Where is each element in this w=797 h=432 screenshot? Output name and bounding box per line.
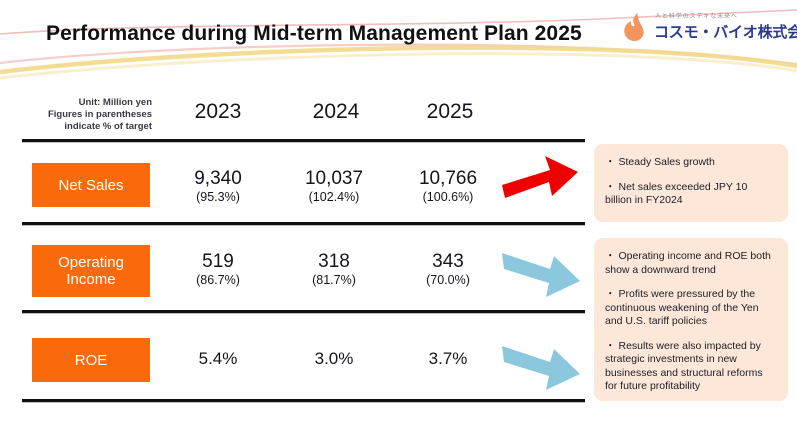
commentary-item: ・Net sales exceeded JPY 10 billion in FY… <box>605 181 777 208</box>
metric-label-net-sales-text: Net Sales <box>58 177 123 194</box>
cell-subvalue: (81.7%) <box>282 273 386 288</box>
metric-label-operating-income-line2: Income <box>66 271 115 288</box>
cell-net-sales-2025: 10,766 (100.6%) <box>396 168 500 205</box>
table-header-rule <box>22 139 585 142</box>
arrow-down-right-icon <box>500 243 584 303</box>
cell-operating-income-2023: 519 (86.7%) <box>166 251 270 288</box>
commentary-text: Results were also impacted by strategic … <box>605 340 763 393</box>
metric-label-net-sales: Net Sales <box>32 163 150 207</box>
bullet-glyph: ・ <box>605 181 616 193</box>
cell-value: 10,037 <box>282 168 386 190</box>
unit-note: Unit: Million yen Figures in parentheses… <box>22 97 152 133</box>
cell-value: 3.7% <box>396 348 500 370</box>
cell-subvalue: (100.6%) <box>396 190 500 205</box>
commentary-text: Profits were pressured by the continuous… <box>605 288 759 327</box>
column-header-2025: 2025 <box>400 100 500 124</box>
cell-value: 9,340 <box>166 168 270 190</box>
cell-net-sales-2024: 10,037 (102.4%) <box>282 168 386 205</box>
unit-note-line-1: Unit: Million yen <box>22 97 152 109</box>
commentary-item: ・Profits were pressured by the continuou… <box>605 288 777 329</box>
bullet-glyph: ・ <box>605 288 616 300</box>
slide-canvas: Performance during Mid-term Management P… <box>0 0 797 432</box>
logo-tagline: 人と科学のステキな未来へ <box>655 11 738 20</box>
column-header-2023: 2023 <box>168 100 268 124</box>
logo-company-name: コスモ・バイオ株式会社 <box>654 21 797 42</box>
unit-note-line-2: Figures in parentheses <box>22 109 152 121</box>
commentary-item: ・Operating income and ROE both show a do… <box>605 250 777 277</box>
cell-value: 519 <box>166 251 270 273</box>
cell-value: 3.0% <box>282 348 386 370</box>
cell-net-sales-2023: 9,340 (95.3%) <box>166 168 270 205</box>
logo-flame-icon <box>621 12 647 42</box>
cell-subvalue: (102.4%) <box>282 190 386 205</box>
table-row2-rule <box>22 310 585 313</box>
cell-operating-income-2024: 318 (81.7%) <box>282 251 386 288</box>
metric-label-roe-text: ROE <box>75 352 108 369</box>
bullet-glyph: ・ <box>605 340 616 352</box>
company-logo: 人と科学のステキな未来へ コスモ・バイオ株式会社 <box>621 10 791 46</box>
cell-subvalue: (86.7%) <box>166 273 270 288</box>
page-title: Performance during Mid-term Management P… <box>46 22 582 46</box>
commentary-text: Net sales exceeded JPY 10 billion in FY2… <box>605 181 747 207</box>
bullet-glyph: ・ <box>605 156 616 168</box>
cell-roe-2025: 3.7% <box>396 348 500 370</box>
commentary-panel-sales: ・Steady Sales growth ・Net sales exceeded… <box>594 144 788 222</box>
commentary-text: Steady Sales growth <box>619 156 715 168</box>
commentary-item: ・Steady Sales growth <box>605 156 777 170</box>
metric-label-roe: ROE <box>32 338 150 382</box>
cell-subvalue: (95.3%) <box>166 190 270 205</box>
metric-label-operating-income-line1: Operating <box>58 254 124 271</box>
commentary-text: Operating income and ROE both show a dow… <box>605 250 771 276</box>
unit-note-line-3: indicate % of target <box>22 121 152 133</box>
cell-value: 318 <box>282 251 386 273</box>
cell-value: 343 <box>396 251 500 273</box>
cell-operating-income-2025: 343 (70.0%) <box>396 251 500 288</box>
cell-value: 10,766 <box>396 168 500 190</box>
table-row1-rule <box>22 222 585 225</box>
cell-roe-2024: 3.0% <box>282 348 386 370</box>
cell-value: 5.4% <box>166 348 270 370</box>
column-header-2024: 2024 <box>286 100 386 124</box>
arrow-down-right-icon <box>500 336 584 396</box>
bullet-glyph: ・ <box>605 250 616 262</box>
commentary-panel-profit: ・Operating income and ROE both show a do… <box>594 238 788 401</box>
table-bottom-rule <box>22 399 585 402</box>
commentary-item: ・Results were also impacted by strategic… <box>605 340 777 394</box>
arrow-up-right-icon <box>500 152 582 206</box>
cell-subvalue: (70.0%) <box>396 273 500 288</box>
metric-label-operating-income: Operating Income <box>32 245 150 297</box>
cell-roe-2023: 5.4% <box>166 348 270 370</box>
